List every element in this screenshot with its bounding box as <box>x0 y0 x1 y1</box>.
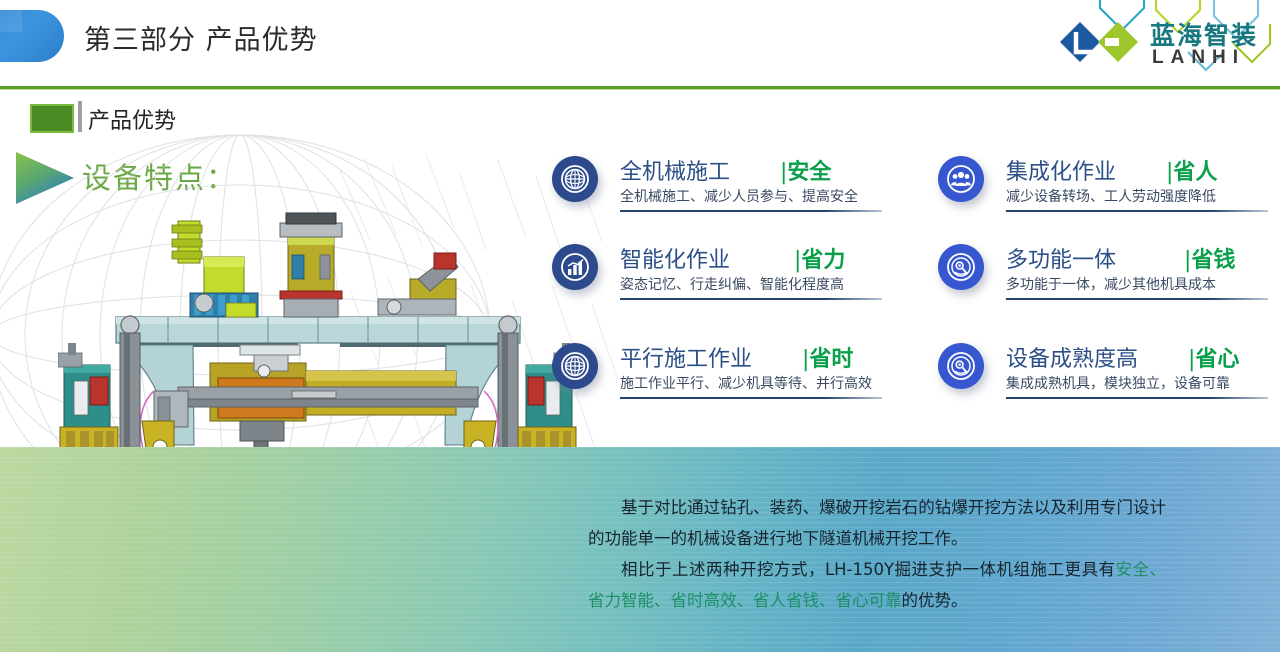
feature-subtitle: 多功能于一体，减少其他机具成本 <box>1006 274 1216 294</box>
summary-paragraph-1: 基于对比通过钻孔、装药、爆破开挖岩石的钻爆开挖方法以及利用专门设计的功能单一的机… <box>588 492 1166 554</box>
summary-lead: 相比于上述两种开挖方式，LH-150Y掘进支护一体机组施工更具有 <box>621 560 1116 579</box>
feature-subtitle: 全机械施工、减少人员参与、提高安全 <box>620 186 858 206</box>
feature-tag: |安全 <box>780 154 831 186</box>
feature-subtitle: 施工作业平行、减少机具等待、并行高效 <box>620 373 872 393</box>
feature-item-ji-cheng-hua-zuo-ye[interactable]: 集成化作业 |省人 减少设备转场、工人劳动强度降低 <box>938 152 1268 244</box>
logo-mark-icon <box>1058 18 1142 66</box>
brand-logo[interactable]: 蓝海智装 LANHI <box>1038 0 1274 84</box>
slide-header: 第三部分 产品优势 蓝海智装 LANHI <box>0 0 1280 88</box>
feature-item-duo-gong-neng-yi-ti[interactable]: 多功能一体 |省钱 多功能于一体，减少其他机具成本 <box>938 240 1268 332</box>
feature-underline <box>1006 210 1268 212</box>
feature-title: 全机械施工 <box>620 154 730 186</box>
feature-tag: |省心 <box>1188 341 1239 373</box>
header-green-rule-secondary <box>0 89 1280 90</box>
feature-item-zhi-neng-hua-zuo-ye[interactable]: 智能化作业 |省力 姿态记忆、行走纠偏、智能化程度高 <box>552 240 882 332</box>
feature-subtitle: 集成成熟机具，模块独立，设备可靠 <box>1006 373 1230 393</box>
logo-brand-en: LANHI <box>1152 47 1245 69</box>
target-disc-icon <box>938 343 984 389</box>
feature-tag: |省时 <box>802 341 853 373</box>
people-group-icon <box>938 156 984 202</box>
feature-title: 智能化作业 <box>620 242 730 274</box>
feature-title: 平行施工作业 <box>620 341 752 373</box>
feature-title: 多功能一体 <box>1006 242 1116 274</box>
feature-underline <box>620 210 882 212</box>
section-label: 产品优势 <box>88 103 176 135</box>
header-accent-shape <box>0 10 64 62</box>
feature-underline <box>620 298 882 300</box>
summary-paragraph-2: 相比于上述两种开挖方式，LH-150Y掘进支护一体机组施工更具有安全、省力智能、… <box>588 554 1166 616</box>
feature-item-quan-ji-xie-shi-gong[interactable]: 全机械施工 |安全 全机械施工、减少人员参与、提高安全 <box>552 152 882 244</box>
slide-footer-strip <box>0 652 1280 669</box>
section-swatch <box>30 104 74 133</box>
summary-paragraph: 基于对比通过钻孔、装药、爆破开挖岩石的钻爆开挖方法以及利用专门设计的功能单一的机… <box>588 492 1166 616</box>
feature-tag: |省力 <box>794 242 845 274</box>
feature-underline <box>1006 397 1268 399</box>
feature-tag: |省人 <box>1166 154 1217 186</box>
feature-subtitle: 姿态记忆、行走纠偏、智能化程度高 <box>620 274 844 294</box>
feature-item-she-bei-cheng-shu-du-gao[interactable]: 设备成熟度高 |省心 集成成熟机具，模块独立，设备可靠 <box>938 339 1268 431</box>
feature-list: 全机械施工 |安全 全机械施工、减少人员参与、提高安全 智能化作业 |省力 姿态… <box>552 140 1278 440</box>
feature-subtitle: 减少设备转场、工人劳动强度降低 <box>1006 186 1216 206</box>
feature-tag: |省钱 <box>1184 242 1235 274</box>
feature-underline <box>620 397 882 399</box>
bar-chart-icon <box>552 244 598 290</box>
subhead-equipment-features: 设备特点： <box>82 155 237 197</box>
page-title: 第三部分 产品优势 <box>84 18 318 57</box>
feature-title: 集成化作业 <box>1006 154 1116 186</box>
slide: 基于对比通过钻孔、装药、爆破开挖岩石的钻爆开挖方法以及利用专门设计的功能单一的机… <box>0 0 1280 669</box>
feature-underline <box>1006 298 1268 300</box>
feature-item-ping-xing-shi-gong-zuo-ye[interactable]: 平行施工作业 |省时 施工作业平行、减少机具等待、并行高效 <box>552 339 882 431</box>
section-divider <box>78 101 82 132</box>
target-disc-icon <box>938 244 984 290</box>
summary-tail: 的优势。 <box>902 591 968 610</box>
globe-icon <box>552 343 598 389</box>
feature-title: 设备成熟度高 <box>1006 341 1138 373</box>
globe-icon <box>552 156 598 202</box>
